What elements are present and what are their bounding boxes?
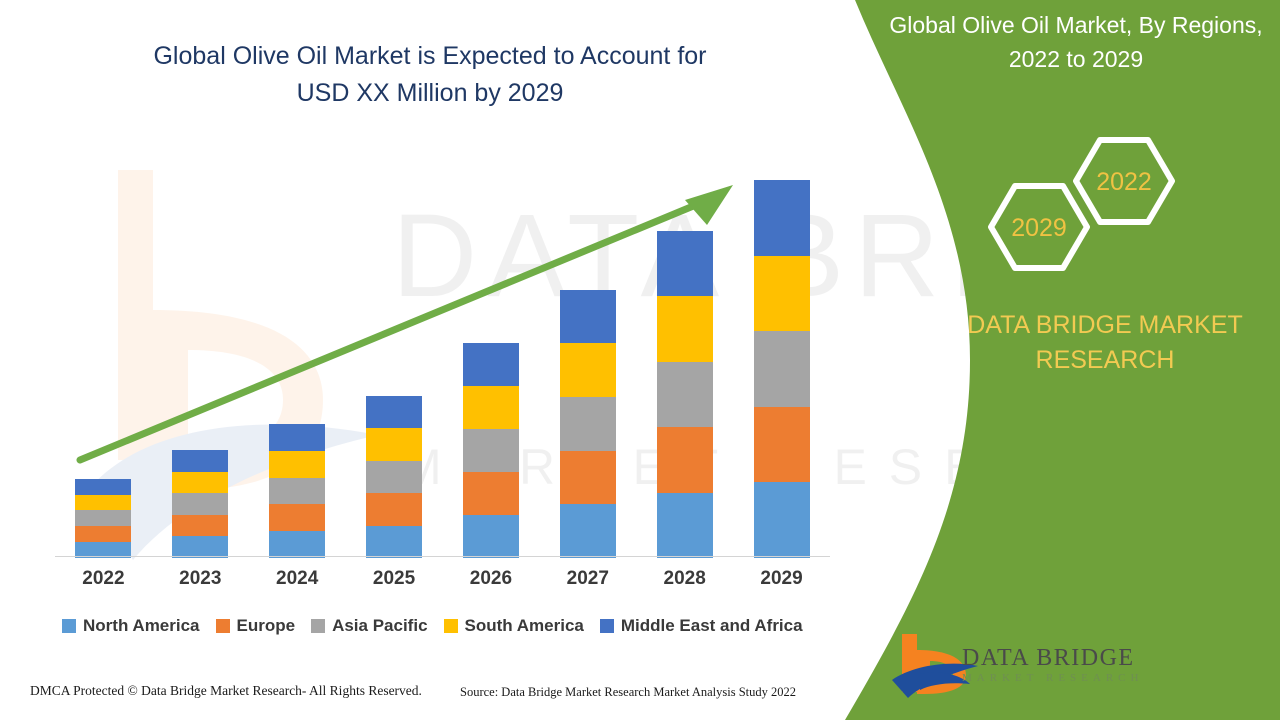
bar-segment[interactable] (754, 482, 810, 558)
logo-wordmark-secondary: MARKET RESEARCH (962, 672, 1143, 684)
bar-segment[interactable] (75, 526, 131, 542)
legend-label: South America (465, 616, 584, 636)
bar-segment[interactable] (754, 256, 810, 332)
x-axis-label-2022: 2022 (58, 568, 148, 590)
bar-segment[interactable] (657, 493, 713, 558)
bar-2025[interactable] (366, 396, 422, 559)
green-panel-title-line-1: Global Olive Oil Market, By Regions, (880, 8, 1272, 42)
bar-segment[interactable] (172, 493, 228, 515)
bar-segment[interactable] (366, 428, 422, 461)
bar-segment[interactable] (366, 461, 422, 494)
bar-segment[interactable] (269, 451, 325, 478)
hexagon-year-badges: 2022 2029 (975, 128, 1195, 288)
hexagon-2022-label: 2022 (1096, 168, 1152, 196)
bar-segment[interactable] (366, 526, 422, 559)
x-axis-label-2026: 2026 (446, 568, 536, 590)
legend-label: Middle East and Africa (621, 616, 803, 636)
bar-segment[interactable] (463, 429, 519, 472)
x-axis-label-2023: 2023 (155, 568, 245, 590)
x-axis-label-2024: 2024 (252, 568, 342, 590)
chart-legend: North AmericaEuropeAsia PacificSouth Ame… (62, 616, 803, 636)
legend-swatch-icon (216, 619, 230, 633)
legend-label: Europe (237, 616, 296, 636)
bar-segment[interactable] (657, 296, 713, 361)
bar-2026[interactable] (463, 343, 519, 558)
bar-segment[interactable] (269, 504, 325, 531)
bar-segment[interactable] (560, 397, 616, 451)
footer-copyright: DMCA Protected © Data Bridge Market Rese… (30, 683, 422, 699)
hexagon-2029-label: 2029 (1011, 214, 1067, 242)
bar-segment[interactable] (463, 386, 519, 429)
bar-segment[interactable] (754, 331, 810, 407)
legend-item[interactable]: Asia Pacific (311, 616, 427, 636)
green-panel-title: Global Olive Oil Market, By Regions, 202… (880, 8, 1272, 76)
legend-label: Asia Pacific (332, 616, 427, 636)
bar-segment[interactable] (366, 396, 422, 429)
bar-segment[interactable] (172, 536, 228, 558)
page-title: Global Olive Oil Market is Expected to A… (60, 38, 800, 112)
bar-segment[interactable] (463, 343, 519, 386)
legend-item[interactable]: Europe (216, 616, 296, 636)
x-axis-line (55, 556, 830, 557)
bar-2029[interactable] (754, 180, 810, 558)
footer-source: Source: Data Bridge Market Research Mark… (460, 685, 796, 700)
x-axis-label-2029: 2029 (737, 568, 827, 590)
bar-2022[interactable] (75, 479, 131, 558)
infographic-canvas: DATA BRIDGE MARKET RESEARCH Global Olive… (0, 0, 1280, 720)
bar-2028[interactable] (657, 231, 713, 558)
bar-segment[interactable] (657, 362, 713, 427)
page-title-line-2: USD XX Million by 2029 (60, 75, 800, 112)
stacked-bar-plot (55, 180, 830, 558)
bar-segment[interactable] (75, 510, 131, 526)
legend-item[interactable]: Middle East and Africa (600, 616, 803, 636)
green-panel-title-line-2: 2022 to 2029 (880, 42, 1272, 76)
bar-segment[interactable] (657, 427, 713, 492)
legend-item[interactable]: South America (444, 616, 584, 636)
bar-segment[interactable] (560, 343, 616, 397)
legend-item[interactable]: North America (62, 616, 200, 636)
bar-segment[interactable] (269, 424, 325, 451)
bar-segment[interactable] (366, 493, 422, 526)
bar-segment[interactable] (172, 450, 228, 472)
bar-segment[interactable] (560, 504, 616, 558)
brand-name-line-1: DATA BRIDGE MARKET (930, 308, 1280, 343)
bar-segment[interactable] (172, 515, 228, 537)
bar-segment[interactable] (463, 472, 519, 515)
bar-segment[interactable] (754, 180, 810, 256)
x-axis-label-2027: 2027 (543, 568, 633, 590)
brand-name-line-2: RESEARCH (930, 343, 1280, 378)
bar-segment[interactable] (172, 472, 228, 494)
bar-segment[interactable] (657, 231, 713, 296)
logo-wordmark-primary: DATA BRIDGE (962, 645, 1135, 672)
bar-segment[interactable] (560, 451, 616, 505)
legend-label: North America (83, 616, 200, 636)
bar-segment[interactable] (75, 495, 131, 511)
bar-segment[interactable] (560, 290, 616, 344)
legend-swatch-icon (444, 619, 458, 633)
bar-segment[interactable] (269, 531, 325, 558)
x-axis-label-2028: 2028 (640, 568, 730, 590)
bar-segment[interactable] (269, 478, 325, 505)
bar-segment[interactable] (463, 515, 519, 558)
bar-2027[interactable] (560, 290, 616, 558)
page-title-line-1: Global Olive Oil Market is Expected to A… (60, 38, 800, 75)
x-axis-label-2025: 2025 (349, 568, 439, 590)
legend-swatch-icon (600, 619, 614, 633)
legend-swatch-icon (311, 619, 325, 633)
bar-segment[interactable] (75, 479, 131, 495)
x-axis-labels: 20222023202420252026202720282029 (55, 568, 830, 598)
brand-name: DATA BRIDGE MARKET RESEARCH (930, 308, 1280, 378)
legend-swatch-icon (62, 619, 76, 633)
bar-2024[interactable] (269, 424, 325, 558)
bar-2023[interactable] (172, 450, 228, 558)
bar-segment[interactable] (754, 407, 810, 483)
